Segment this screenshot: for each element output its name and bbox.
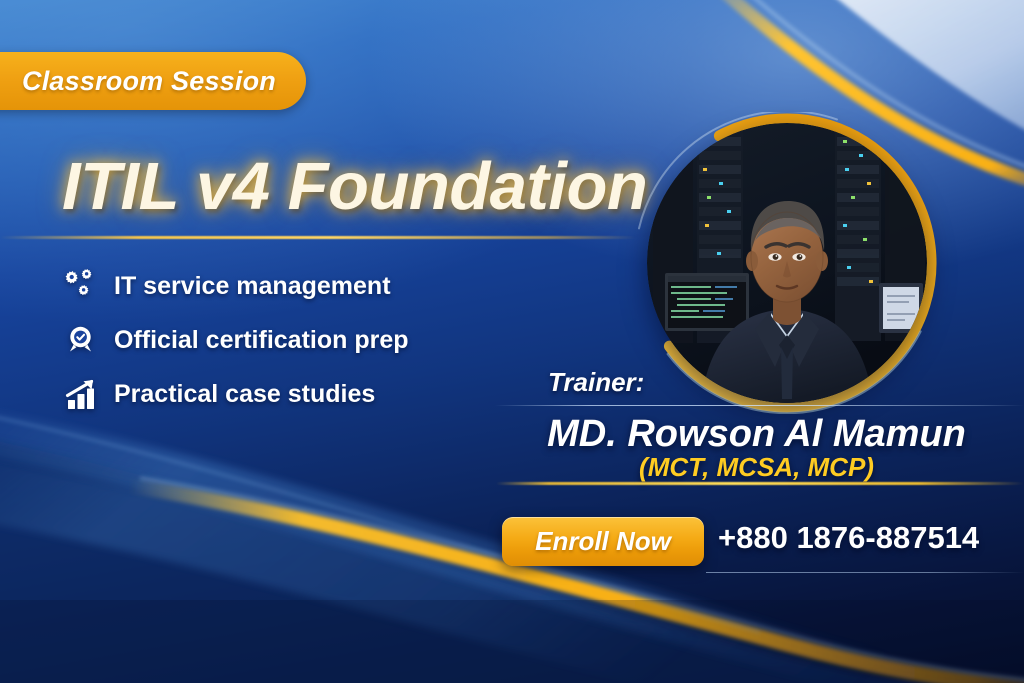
enroll-now-button[interactable]: Enroll Now	[502, 517, 704, 566]
badge-label: Classroom Session	[22, 66, 276, 97]
magnifier-check-icon	[58, 323, 104, 357]
classroom-session-badge: Classroom Session	[0, 52, 306, 110]
bar-chart-arrow-icon	[58, 377, 104, 411]
phone-underline	[706, 572, 1024, 573]
contact-phone-number[interactable]: +880 1876-887514	[718, 520, 979, 556]
trainer-portrait-block	[647, 123, 927, 403]
trainer-divider-top	[495, 405, 1024, 406]
page-title: ITIL v4 Foundation	[62, 148, 647, 225]
trainer-photo	[647, 123, 927, 403]
promotional-banner: Classroom Session ITIL v4 Foundation	[0, 0, 1024, 683]
feature-label: Official certification prep	[114, 326, 409, 355]
trainer-name: MD. Rowson Al Mamun	[0, 413, 1024, 456]
feature-item-practical-case-studies: Practical case studies	[58, 370, 409, 418]
gears-icon	[58, 269, 104, 303]
trainer-divider-bottom	[496, 482, 1024, 485]
enroll-now-label: Enroll Now	[535, 526, 671, 557]
trainer-credentials: (MCT, MCSA, MCP)	[0, 452, 1024, 483]
trainer-label: Trainer:	[548, 367, 644, 398]
title-underline	[0, 236, 636, 239]
feature-list: IT service management Official certifica…	[58, 262, 409, 424]
feature-label: Practical case studies	[114, 380, 375, 409]
feature-label: IT service management	[114, 272, 391, 301]
feature-item-official-certification-prep: Official certification prep	[58, 316, 409, 364]
feature-item-it-service-management: IT service management	[58, 262, 409, 310]
